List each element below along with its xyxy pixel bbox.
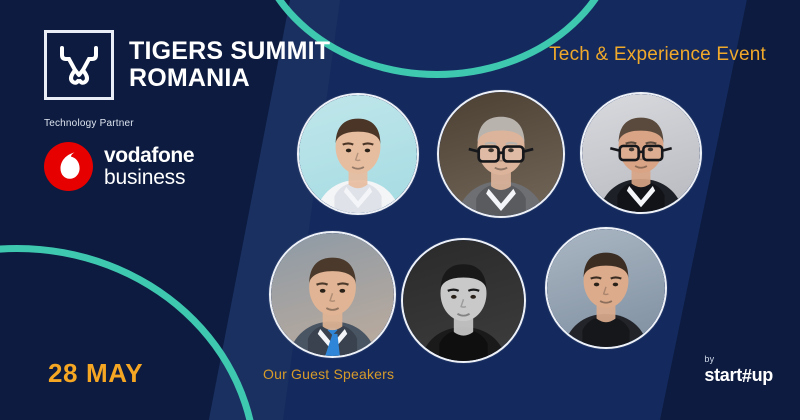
speaker-portrait xyxy=(297,93,419,215)
speaker-photo xyxy=(299,95,417,213)
brand-title-line-1: TIGERS SUMMIT xyxy=(129,37,330,65)
speakers-caption: Our Guest Speakers xyxy=(263,366,394,382)
startup-hash-icon: # xyxy=(742,366,752,387)
technology-partner-block: Technology Partner vodafone business xyxy=(44,118,244,191)
startup-wordmark: start#up xyxy=(704,365,773,386)
event-date: 28 MAY xyxy=(48,358,143,389)
vodafone-logo: vodafone business xyxy=(44,142,244,191)
vodafone-business-label: business xyxy=(104,167,194,189)
startup-word-part1: start xyxy=(704,365,742,385)
vodafone-name: vodafone xyxy=(104,144,194,167)
speaker-portrait xyxy=(580,92,702,214)
brand-title: TIGERS SUMMIT ROMANIA xyxy=(129,38,330,92)
speaker-portrait xyxy=(269,231,396,358)
speaker-portrait xyxy=(401,238,526,363)
speaker-photo xyxy=(439,92,563,216)
tigers-summit-mark-icon xyxy=(44,30,114,100)
brand-title-line-2: ROMANIA xyxy=(129,65,330,92)
organizer-by-label: by xyxy=(704,354,773,364)
speaker-photo xyxy=(547,229,665,347)
vodafone-wordmark: vodafone business xyxy=(104,145,194,188)
event-tagline: Tech & Experience Event xyxy=(549,44,766,66)
brand-lockup: TIGERS SUMMIT ROMANIA xyxy=(44,30,330,100)
speaker-photo xyxy=(403,240,524,361)
startup-word-part2: up xyxy=(752,365,773,385)
speaker-portrait xyxy=(545,227,667,349)
speaker-photo xyxy=(271,233,394,356)
partner-label: Technology Partner xyxy=(44,118,244,129)
vodafone-speechmark-icon xyxy=(44,142,93,191)
organizer-credit: by start#up xyxy=(704,354,773,386)
speaker-photo xyxy=(582,94,700,212)
speaker-portrait xyxy=(437,90,565,218)
event-banner: TIGERS SUMMIT ROMANIA Technology Partner… xyxy=(0,0,800,420)
